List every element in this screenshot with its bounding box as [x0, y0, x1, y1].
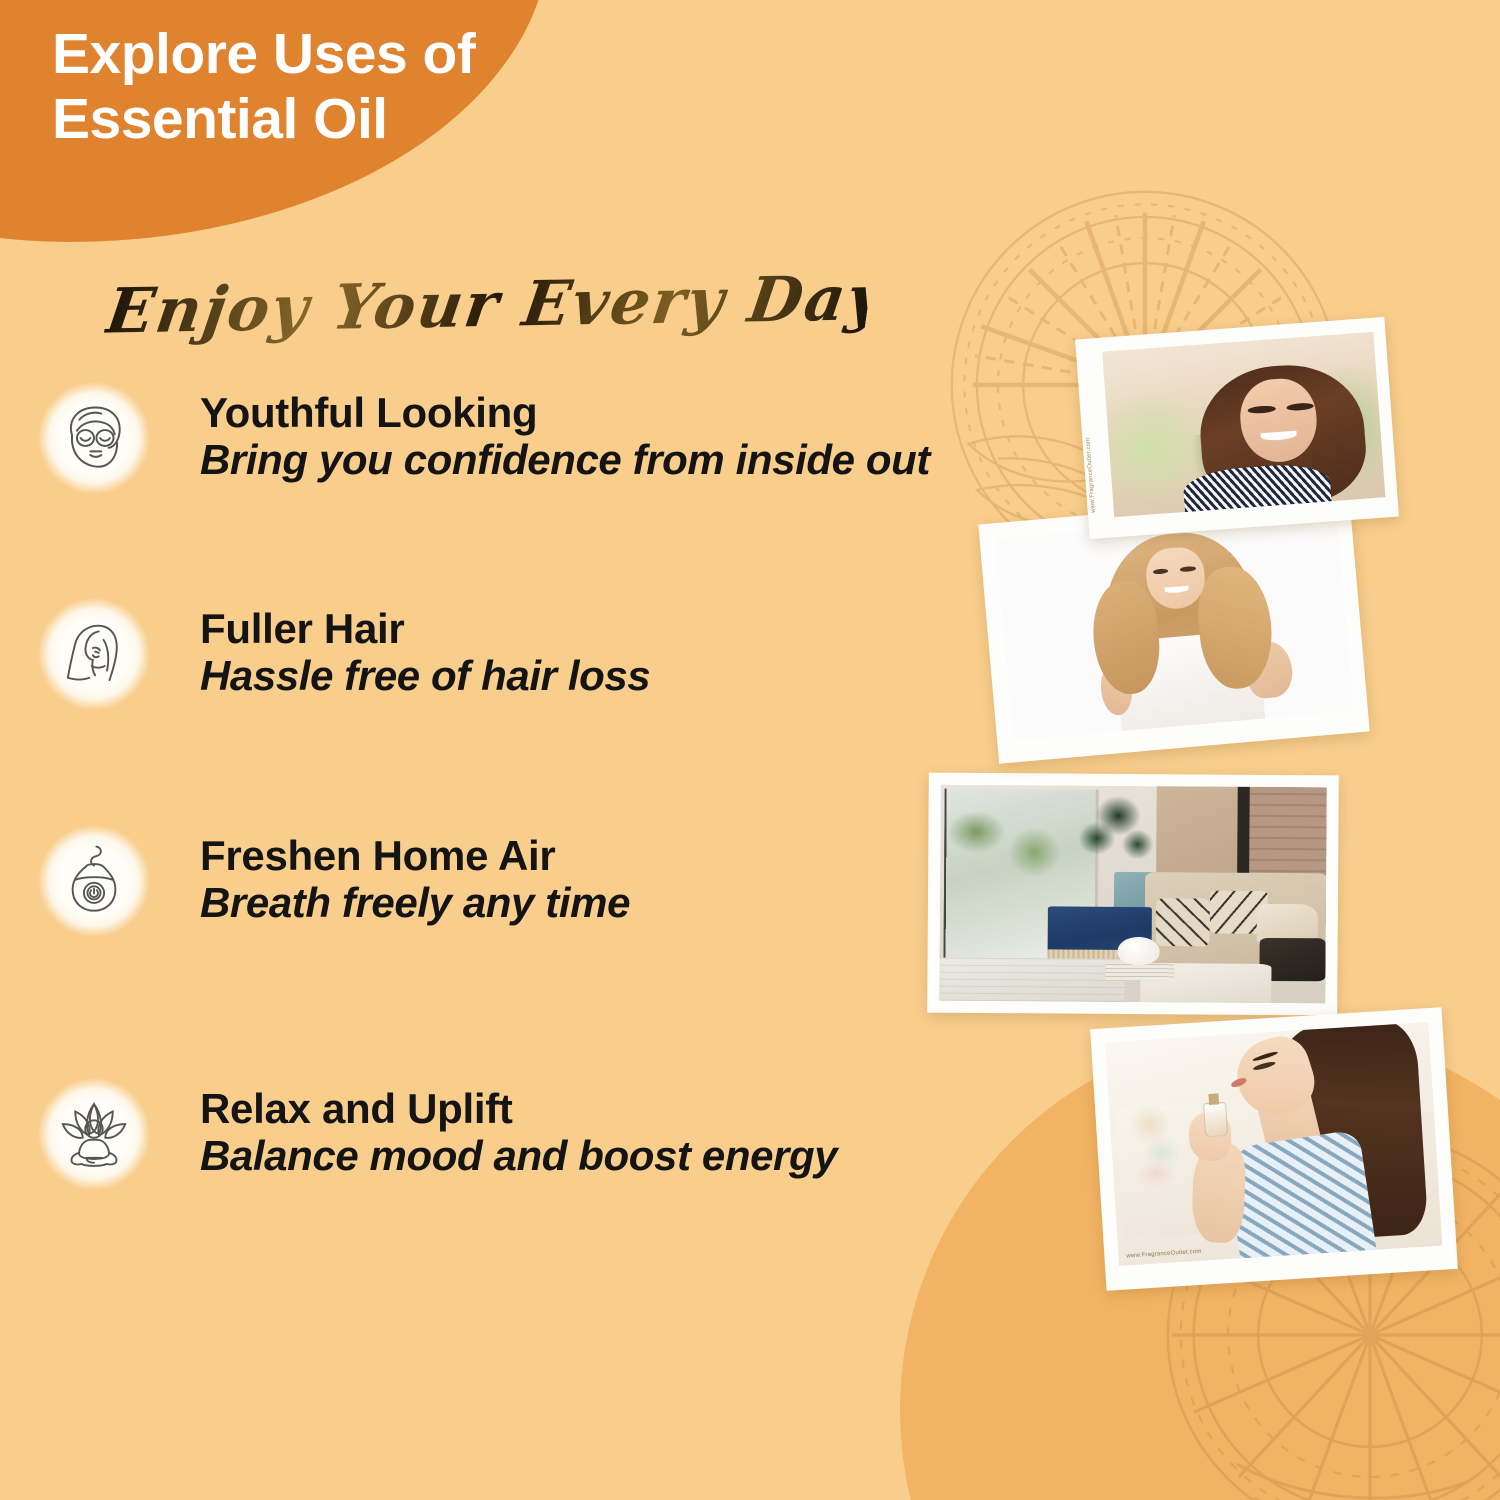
photo-image-area	[1105, 1022, 1442, 1266]
round-lamp	[1117, 937, 1160, 965]
page-title-line-1: Explore Uses of	[52, 22, 475, 86]
feature-text-block: Fuller Hair Hassle free of hair loss	[200, 598, 650, 702]
feature-subtitle: Hassle free of hair loss	[200, 651, 650, 701]
photo-smiling-woman: www.FragranceOutlet.com	[1075, 317, 1399, 539]
book-stack	[1105, 963, 1175, 981]
feature-title: Fuller Hair	[200, 606, 650, 651]
page-title: Explore Uses of Essential Oil	[52, 22, 672, 152]
lotus-meditation-icon	[38, 1078, 150, 1190]
outdoor-greenery	[948, 802, 1088, 902]
feature-subtitle: Balance mood and boost energy	[200, 1131, 837, 1181]
feature-title: Relax and Uplift	[200, 1086, 837, 1131]
photo-woman-applying-perfume: www.FragranceOutlet.com	[1090, 1007, 1458, 1291]
photo-cozy-living-room	[927, 773, 1339, 1016]
long-hair-profile-icon	[38, 598, 150, 710]
feature-item-freshen-home-air: Freshen Home Air Breath freely any time	[38, 825, 630, 937]
photo-image-area	[996, 509, 1354, 740]
feature-title: Freshen Home Air	[200, 833, 630, 878]
feature-title: Youthful Looking	[200, 390, 930, 435]
feature-text-block: Relax and Uplift Balance mood and boost …	[200, 1078, 837, 1182]
perfume-nozzle	[1209, 1094, 1219, 1106]
feature-text-block: Youthful Looking Bring you confidence fr…	[200, 382, 930, 486]
feature-text-block: Freshen Home Air Breath freely any time	[200, 825, 630, 929]
feature-item-fuller-hair: Fuller Hair Hassle free of hair loss	[38, 598, 650, 710]
feature-subtitle: Breath freely any time	[200, 878, 630, 928]
woven-rug	[939, 957, 1125, 1001]
blue-patterned-top	[1224, 1128, 1377, 1265]
feature-item-relax-and-uplift: Relax and Uplift Balance mood and boost …	[38, 1078, 837, 1190]
photo-image-area	[939, 785, 1326, 1004]
patterned-cushion	[1156, 898, 1210, 946]
page-title-line-2: Essential Oil	[52, 87, 388, 151]
face-mask-icon	[38, 382, 150, 494]
photo-blonde-wavy-hair	[978, 492, 1370, 764]
infographic-page: Explore Uses of Essential Oil Enjoy Your…	[0, 0, 1500, 1500]
feature-item-youthful-looking: Youthful Looking Bring you confidence fr…	[38, 382, 930, 494]
tagline: Enjoy Your Every Day	[102, 261, 874, 347]
perfume-bottle	[1203, 1102, 1228, 1137]
feature-subtitle: Bring you confidence from inside out	[200, 435, 930, 485]
photo-image-area	[1102, 332, 1385, 517]
aroma-diffuser-icon	[38, 825, 150, 937]
photo-watermark: www.FragranceOutlet.com	[1085, 437, 1096, 513]
